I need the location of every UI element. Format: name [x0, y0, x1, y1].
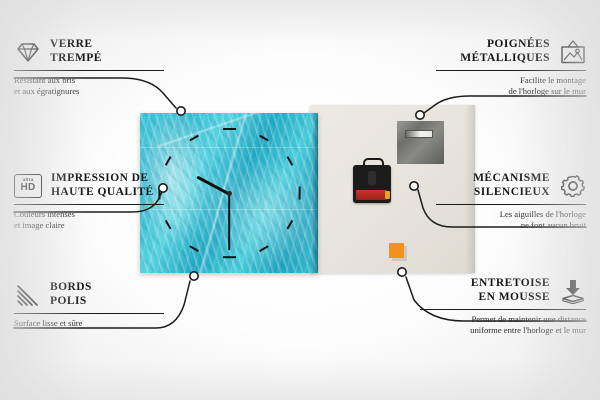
- battery-terminal: [385, 191, 390, 199]
- callout-header: ENTRETOISE EN MOUSSE: [420, 277, 586, 304]
- callout-header: ultra HD IMPRESSION DE HAUTE QUALITÉ: [14, 172, 164, 199]
- metal-hanger-photo: [397, 121, 444, 164]
- callout-title: VERRE TREMPÉ: [50, 38, 102, 65]
- callout-tempered-glass: VERRE TREMPÉ Résistant aux bris et aux é…: [14, 38, 164, 96]
- callout-header: POIGNÉES MÉTALLIQUES: [436, 38, 586, 65]
- clock-tick-major: [223, 128, 236, 130]
- infographic-canvas: VERRE TREMPÉ Résistant aux bris et aux é…: [0, 0, 600, 400]
- callout-divider: [436, 70, 586, 71]
- battery: [356, 190, 387, 200]
- clock-tick-major: [298, 186, 300, 199]
- mechanism-bail: [363, 158, 384, 169]
- callout-divider: [14, 313, 164, 314]
- callout-metal-handles: POIGNÉES MÉTALLIQUES Facilite le montage…: [436, 38, 586, 96]
- callout-title: BORDS POLIS: [50, 281, 92, 308]
- product-image: [140, 105, 475, 277]
- callout-title: IMPRESSION DE HAUTE QUALITÉ: [51, 172, 154, 199]
- ultra-hd-icon: ultra HD: [14, 174, 42, 198]
- glass-reflection-line: [140, 147, 318, 148]
- clock-hub: [227, 191, 232, 196]
- picture-hanger-icon: [559, 39, 586, 65]
- callout-foam-spacer: ENTRETOISE EN MOUSSE Permet de maintenir…: [420, 277, 586, 335]
- callout-header: VERRE TREMPÉ: [14, 38, 164, 65]
- diamond-icon: [14, 39, 41, 65]
- callout-title: MÉCANISME SILENCIEUX: [473, 172, 550, 199]
- hanger-slot: [405, 130, 433, 138]
- callout-polished-edges: BORDS POLIS Surface lisse et sûre: [14, 281, 164, 329]
- foam-spacer-arrow-icon: [559, 278, 586, 304]
- quartz-mechanism-photo: [353, 165, 391, 203]
- callout-header: BORDS POLIS: [14, 281, 164, 308]
- foam-spacer-photo: [389, 243, 404, 258]
- callout-divider: [14, 70, 164, 71]
- callout-silent-mechanism: MÉCANISME SILENCIEUX Les aiguilles de l'…: [436, 172, 586, 230]
- callout-title: POIGNÉES MÉTALLIQUES: [460, 38, 550, 65]
- gear-icon: [559, 173, 586, 199]
- callout-title: ENTRETOISE EN MOUSSE: [471, 277, 550, 304]
- callout-divider: [14, 204, 164, 205]
- callout-header: MÉCANISME SILENCIEUX: [436, 172, 586, 199]
- callout-print-quality: ultra HD IMPRESSION DE HAUTE QUALITÉ Cou…: [14, 172, 164, 230]
- glass-edge-shadow: [312, 113, 318, 273]
- mechanism-shaft: [368, 171, 376, 185]
- callout-divider: [420, 309, 586, 310]
- clock-face: [140, 113, 318, 273]
- polished-edges-icon: [14, 282, 41, 308]
- minute-hand: [228, 194, 230, 250]
- callout-divider: [436, 204, 586, 205]
- clock-tick-major: [223, 256, 236, 258]
